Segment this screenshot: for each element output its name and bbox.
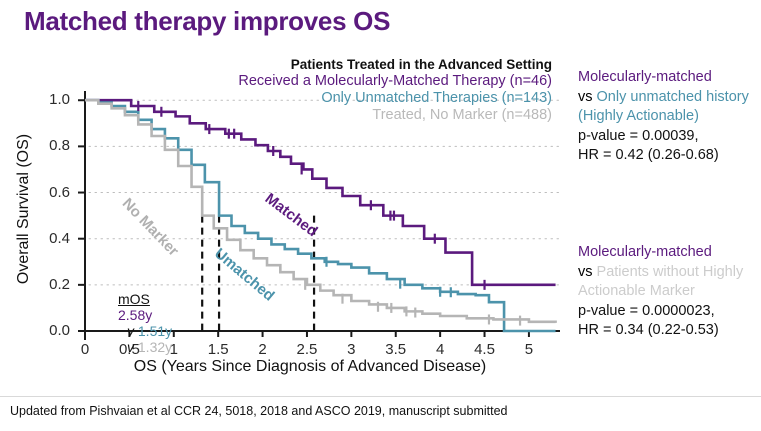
annotation-2-pvalue: p-value = 0.0000023, bbox=[578, 302, 758, 322]
annotation-1-comparator: Only unmatched history (Highly Actionabl… bbox=[578, 89, 749, 125]
y-tick-label: 0.4 bbox=[26, 230, 70, 247]
mos-annotation-box: mOS 2.58y v 1.51y v 1.32y bbox=[118, 291, 172, 355]
annotation-2-comparison: vs Patients without Highly Actionable Ma… bbox=[578, 263, 758, 302]
mos-vs-2: v bbox=[127, 339, 134, 355]
x-axis-label: OS (Years Since Diagnosis of Advanced Di… bbox=[60, 358, 560, 376]
x-tick-label: 2.5 bbox=[287, 341, 327, 358]
legend-item-nomarker: Treated, No Marker (n=488) bbox=[190, 107, 552, 124]
annotation-block-2: Molecularly-matched vs Patients without … bbox=[578, 243, 758, 341]
y-tick-label: 0.6 bbox=[26, 184, 70, 201]
legend-item-unmatched: Only Unmatched Therapies (n=143) bbox=[190, 90, 552, 107]
y-tick-label: 0.2 bbox=[26, 276, 70, 293]
mos-unmatched-row: v 1.51y bbox=[118, 323, 172, 339]
annotation-2-subject: Molecularly-matched bbox=[578, 243, 758, 263]
annotation-1-comparison: vs Only unmatched history (Highly Action… bbox=[578, 88, 758, 127]
page-title: Matched therapy improves OS bbox=[24, 6, 390, 37]
x-tick-label: 0 bbox=[65, 341, 105, 358]
mos-nomarker-value: 1.32y bbox=[138, 339, 172, 355]
annotation-1-subject: Molecularly-matched bbox=[578, 68, 758, 88]
y-tick-label: 1.0 bbox=[26, 91, 70, 108]
legend-item-matched: Received a Molecularly-Matched Therapy (… bbox=[190, 73, 552, 90]
annotation-2-hr: HR = 0.34 (0.22-0.53) bbox=[578, 321, 758, 341]
slide-root: Matched therapy improves OS Overall Surv… bbox=[0, 0, 761, 431]
legend-title: Patients Treated in the Advanced Setting bbox=[190, 57, 552, 73]
mos-unmatched-value: 1.51y bbox=[138, 323, 172, 339]
mos-nomarker-row: v 1.32y bbox=[118, 339, 172, 355]
footer-divider bbox=[0, 396, 761, 397]
annotation-1-vs: vs bbox=[578, 89, 593, 105]
x-tick-label: 4.5 bbox=[465, 341, 505, 358]
annotation-1-pvalue: p-value = 0.00039, bbox=[578, 127, 758, 147]
mos-vs-1: v bbox=[127, 323, 134, 339]
x-tick-label: 5 bbox=[509, 341, 549, 358]
mos-header: mOS bbox=[118, 291, 172, 307]
x-tick-label: 4 bbox=[420, 341, 460, 358]
x-tick-label: 2 bbox=[243, 341, 283, 358]
y-tick-marks bbox=[78, 100, 85, 331]
annotation-2-comparator: Patients without Highly Actionable Marke… bbox=[578, 264, 743, 300]
annotation-block-1: Molecularly-matched vs Only unmatched hi… bbox=[578, 68, 758, 166]
y-tick-label: 0.8 bbox=[26, 137, 70, 154]
x-tick-label: 3 bbox=[331, 341, 371, 358]
survival-chart: Overall Survival (OS) OS (Years Since Di… bbox=[0, 55, 565, 385]
censor-marks bbox=[138, 101, 520, 326]
annotation-2-vs: vs bbox=[578, 264, 593, 280]
annotation-1-hr: HR = 0.42 (0.26-0.68) bbox=[578, 146, 758, 166]
chart-legend: Patients Treated in the Advanced Setting… bbox=[190, 57, 552, 124]
footer-citation: Updated from Pishvaian et al CCR 24, 501… bbox=[10, 404, 508, 418]
x-tick-label: 1.5 bbox=[198, 341, 238, 358]
y-tick-label: 0.0 bbox=[26, 322, 70, 339]
x-tick-label: 3.5 bbox=[376, 341, 416, 358]
mos-matched-value: 2.58y bbox=[118, 307, 172, 323]
